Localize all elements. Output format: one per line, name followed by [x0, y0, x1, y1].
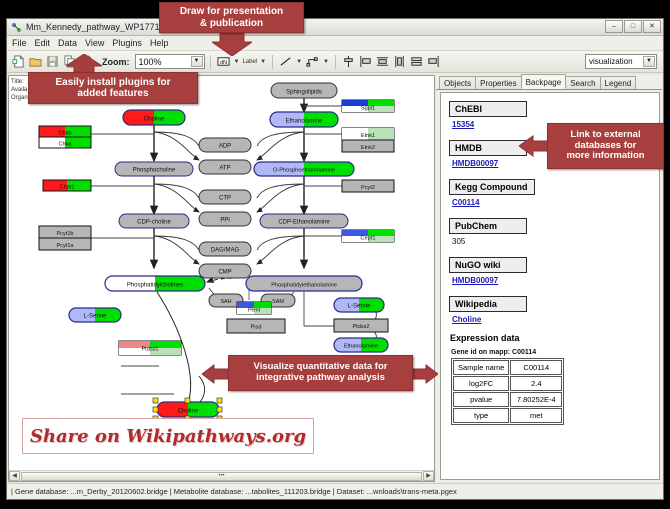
label-dropdown-icon[interactable]: ▼	[259, 59, 267, 65]
scroll-left-arrow-icon[interactable]: ◀	[9, 471, 20, 481]
node-ethanolamine-bottom: Ethanolamine	[334, 338, 388, 352]
cell-sample-name-value: C00114	[510, 360, 562, 375]
wikipedia-header: Wikipedia	[449, 296, 527, 312]
pathvisio-icon	[11, 22, 22, 33]
callout-links-text: Link to external databases for more info…	[566, 130, 644, 163]
svg-text:Phosphatidylcholines: Phosphatidylcholines	[127, 283, 183, 289]
svg-text:CDP-Ethanolamine: CDP-Ethanolamine	[278, 220, 330, 226]
svg-text:Cept1: Cept1	[361, 236, 376, 242]
node-cdp-ethanolamine: CDP-Ethanolamine	[260, 214, 348, 228]
datanode-icon[interactable]: dN	[216, 54, 231, 69]
maximize-button[interactable]: □	[624, 20, 642, 33]
chevron-down-icon-2[interactable]: ▼	[643, 56, 655, 67]
minimize-button[interactable]: –	[605, 20, 623, 33]
toolbar-separator-3	[335, 55, 336, 69]
callout-visualize-arrow-left-icon	[202, 364, 230, 384]
svg-text:Pemt: Pemt	[248, 308, 261, 314]
cell-sample-name-label: Sample name	[453, 360, 509, 375]
kegg-compound-link[interactable]: C00114	[452, 198, 659, 207]
pubchem-header: PubChem	[449, 218, 527, 234]
svg-text:Pcyt1b: Pcyt1b	[56, 231, 73, 237]
new-file-icon[interactable]	[11, 54, 26, 69]
toolbar-separator	[210, 55, 211, 69]
pubchem-value: 305	[452, 237, 659, 246]
tab-objects[interactable]: Objects	[439, 76, 476, 89]
callout-visualize-text: Visualize quantitative data for integrat…	[254, 362, 388, 384]
svg-text:PPi: PPi	[220, 218, 229, 224]
callout-visualize: Visualize quantitative data for integrat…	[228, 355, 413, 391]
cell-type-label: type	[453, 408, 509, 423]
node-chpt1: Chpt1	[43, 180, 91, 191]
callout-plugins-text: Easily install plugins for added feature…	[55, 77, 170, 100]
node-cmp: CMP	[199, 264, 251, 278]
zoom-combobox[interactable]: 100% ▼	[135, 54, 205, 69]
node-l-serine-left: L-Serine	[69, 308, 121, 322]
node-pemt: Pemt	[237, 302, 271, 314]
canvas-horizontal-scrollbar[interactable]: ◀ ••• ▶	[9, 470, 434, 481]
node-phosphatidylethanolamine: Phosphatidylethanolamine	[246, 276, 362, 291]
node-pcyt1a: Pcyt1a	[39, 238, 91, 250]
node-phosphatidylcholines: Phosphatidylcholines	[105, 276, 205, 291]
callout-plugins-arrow-icon	[66, 54, 102, 74]
svg-text:L-Serine: L-Serine	[348, 304, 371, 310]
table-row: log2FC 2.4	[453, 376, 562, 391]
node-sgpl1: Sgpl1	[342, 100, 394, 112]
node-ptdss2: Ptdss2	[334, 319, 388, 332]
svg-text:Phosphatidylethanolamine: Phosphatidylethanolamine	[271, 283, 337, 289]
svg-text:Etnk1: Etnk1	[361, 133, 375, 139]
svg-text:Pisd: Pisd	[251, 325, 262, 331]
svg-text:SAM: SAM	[272, 299, 284, 305]
callout-share: Share on Wikipathways.org	[22, 418, 314, 454]
callout-plugins: Easily install plugins for added feature…	[28, 72, 198, 104]
node-adp: ADP	[199, 138, 251, 152]
node-chka: Chka	[39, 137, 91, 148]
tab-properties[interactable]: Properties	[475, 76, 521, 89]
toolbar-separator-2	[272, 55, 273, 69]
node-ethanolamine-top: Ethanolamine	[270, 112, 338, 127]
node-cept1: Cept1	[342, 230, 394, 242]
chevron-down-icon[interactable]: ▼	[191, 56, 203, 67]
svg-text:CTP: CTP	[219, 196, 231, 202]
cell-log2fc-label: log2FC	[453, 376, 509, 391]
tab-legend[interactable]: Legend	[600, 76, 637, 89]
zoom-value: 100%	[139, 57, 162, 67]
svg-text:Chka: Chka	[58, 142, 72, 148]
svg-text:Sphingolipids: Sphingolipids	[286, 90, 322, 96]
svg-text:CDP-choline: CDP-choline	[137, 220, 171, 226]
menu-view[interactable]: View	[85, 38, 109, 48]
close-button[interactable]: ✕	[643, 20, 661, 33]
expression-data-header: Expression data	[450, 333, 659, 343]
chebi-header: ChEBI	[449, 101, 527, 117]
menu-file[interactable]: File	[12, 38, 32, 48]
kegg-compound-header: Kegg Compound	[449, 179, 535, 195]
gene-id-on-mapp: Gene id on mapp: C00114	[451, 349, 659, 356]
svg-text:Ethanolamine: Ethanolamine	[344, 344, 378, 350]
callout-draw: Draw for presentation & publication	[159, 2, 304, 33]
align-right-icon[interactable]	[426, 54, 441, 69]
open-folder-icon[interactable]	[28, 54, 43, 69]
svg-text:CMP: CMP	[218, 270, 231, 276]
menu-bar: File Edit Data View Plugins Help	[7, 36, 663, 51]
node-dagmag: DAG/MAG	[199, 242, 251, 256]
node-cdp-choline: CDP-choline	[119, 214, 189, 228]
window-controls: – □ ✕	[605, 20, 661, 33]
zoom-label: Zoom:	[102, 57, 130, 67]
node-pcyt2: Pcyt2	[342, 180, 394, 192]
svg-text:Chkb: Chkb	[58, 131, 71, 137]
status-bar: | Gene database: ...m_Derby_20120602.bri…	[7, 483, 663, 499]
menu-edit[interactable]: Edit	[35, 38, 56, 48]
table-row: pvalue 7.80252E-4	[453, 392, 562, 407]
node-pisd: Pisd	[227, 319, 285, 333]
svg-text:dN: dN	[219, 60, 226, 66]
svg-text:Etnk2: Etnk2	[361, 145, 375, 151]
node-ctp: CTP	[199, 190, 251, 204]
node-o-phosphoethanolamine: O-Phosphoethanolamine	[254, 162, 354, 176]
stack-icon[interactable]	[409, 54, 424, 69]
svg-text:Ptdss2: Ptdss2	[352, 324, 369, 330]
expression-data-table: Sample name C00114 log2FC 2.4 pvalue 7.8…	[451, 358, 564, 425]
svg-text:ATP: ATP	[219, 166, 230, 172]
svg-text:Sgpl1: Sgpl1	[361, 106, 375, 112]
node-pcyt1b: Pcyt1b	[39, 226, 91, 238]
side-panel-tabs: Objects Properties Backpage Search Legen…	[436, 75, 662, 90]
align-center-icon[interactable]	[341, 54, 356, 69]
title-bar: Mm_Kennedy_pathway_WP1771_45176.gpml – □…	[7, 19, 663, 36]
callout-links: Link to external databases for more info…	[547, 123, 664, 169]
svg-text:Pcyt2: Pcyt2	[361, 185, 375, 191]
pathway-diagram[interactable]: Sphingolipids Choline Ethanolamine ADP	[9, 76, 434, 476]
cell-pvalue-label: pvalue	[453, 392, 509, 407]
node-chkb: Chkb	[39, 126, 91, 137]
svg-text:O-Phosphoethanolamine: O-Phosphoethanolamine	[273, 168, 335, 174]
svg-text:Pcyt1a: Pcyt1a	[56, 243, 74, 249]
table-row: Sample name C00114	[453, 360, 562, 375]
node-atp: ATP	[199, 160, 251, 174]
connector-tool-icon[interactable]	[305, 54, 320, 69]
status-text: | Gene database: ...m_Derby_20120602.bri…	[11, 487, 457, 496]
line-tool-icon[interactable]	[278, 54, 293, 69]
datanode-dropdown-icon[interactable]: ▼	[233, 59, 241, 65]
cell-type-value: met	[510, 408, 562, 423]
callout-links-arrow-icon	[519, 134, 549, 158]
table-row: type met	[453, 408, 562, 423]
tab-search[interactable]: Search	[565, 76, 600, 89]
visualization-value: visualization	[589, 57, 633, 66]
distribute-horizontal-icon[interactable]	[392, 54, 407, 69]
scroll-right-arrow-icon[interactable]: ▶	[423, 471, 434, 481]
save-icon[interactable]	[45, 54, 60, 69]
callout-share-text: Share on Wikipathways.org	[30, 426, 306, 447]
svg-text:SAH: SAH	[220, 299, 231, 305]
svg-text:Chpt1: Chpt1	[60, 185, 75, 191]
svg-text:Ptdss1: Ptdss1	[141, 347, 158, 353]
node-phosphocholine: Phosphocholine	[115, 162, 193, 176]
node-etnk1: Etnk1	[342, 128, 394, 140]
distribute-vertical-icon[interactable]	[375, 54, 390, 69]
cell-pvalue-value: 7.80252E-4	[510, 392, 562, 407]
svg-text:DAG/MAG: DAG/MAG	[211, 248, 240, 254]
cell-log2fc-value: 2.4	[510, 376, 562, 391]
svg-text:Choline: Choline	[178, 409, 199, 415]
visualization-combobox[interactable]: visualization ▼	[585, 54, 657, 69]
callout-draw-text: Draw for presentation & publication	[180, 6, 283, 29]
node-ppi: PPi	[199, 212, 251, 226]
menu-help[interactable]: Help	[150, 38, 174, 48]
node-ptdss1: Ptdss1	[119, 341, 181, 355]
hmdb-header: HMDB	[449, 140, 527, 156]
node-l-serine-right: L-Serine	[334, 298, 384, 312]
callout-draw-arrow-icon	[212, 32, 252, 56]
menu-plugins[interactable]: Plugins	[112, 38, 147, 48]
screenshot-root: Mm_Kennedy_pathway_WP1771_45176.gpml – □…	[0, 0, 670, 509]
label-tool-label[interactable]: Label	[242, 59, 257, 65]
node-choline-top: Choline	[123, 110, 185, 125]
svg-text:Choline: Choline	[144, 117, 165, 123]
line-dropdown-icon[interactable]: ▼	[295, 59, 303, 65]
svg-text:ADP: ADP	[219, 144, 231, 150]
menu-data[interactable]: Data	[58, 38, 82, 48]
toolbar: Zoom: 100% ▼ dN ▼ Label ▼ ▼ ▼	[7, 51, 663, 73]
nugo-wiki-header: NuGO wiki	[449, 257, 527, 273]
callout-visualize-arrow-right-icon	[410, 364, 438, 384]
svg-text:Phosphocholine: Phosphocholine	[133, 168, 176, 174]
svg-text:L-Serine: L-Serine	[84, 314, 107, 320]
tab-backpage[interactable]: Backpage	[521, 74, 567, 89]
wikipedia-link[interactable]: Choline	[452, 315, 659, 324]
connector-dropdown-icon[interactable]: ▼	[322, 59, 330, 65]
nugo-wiki-link[interactable]: HMDB00097	[452, 276, 659, 285]
scroll-thumb[interactable]: •••	[21, 472, 422, 481]
node-sphingolipids: Sphingolipids	[271, 83, 337, 98]
align-left-icon[interactable]	[358, 54, 373, 69]
svg-text:Ethanolamine: Ethanolamine	[286, 119, 323, 125]
node-etnk2: Etnk2	[342, 140, 394, 152]
